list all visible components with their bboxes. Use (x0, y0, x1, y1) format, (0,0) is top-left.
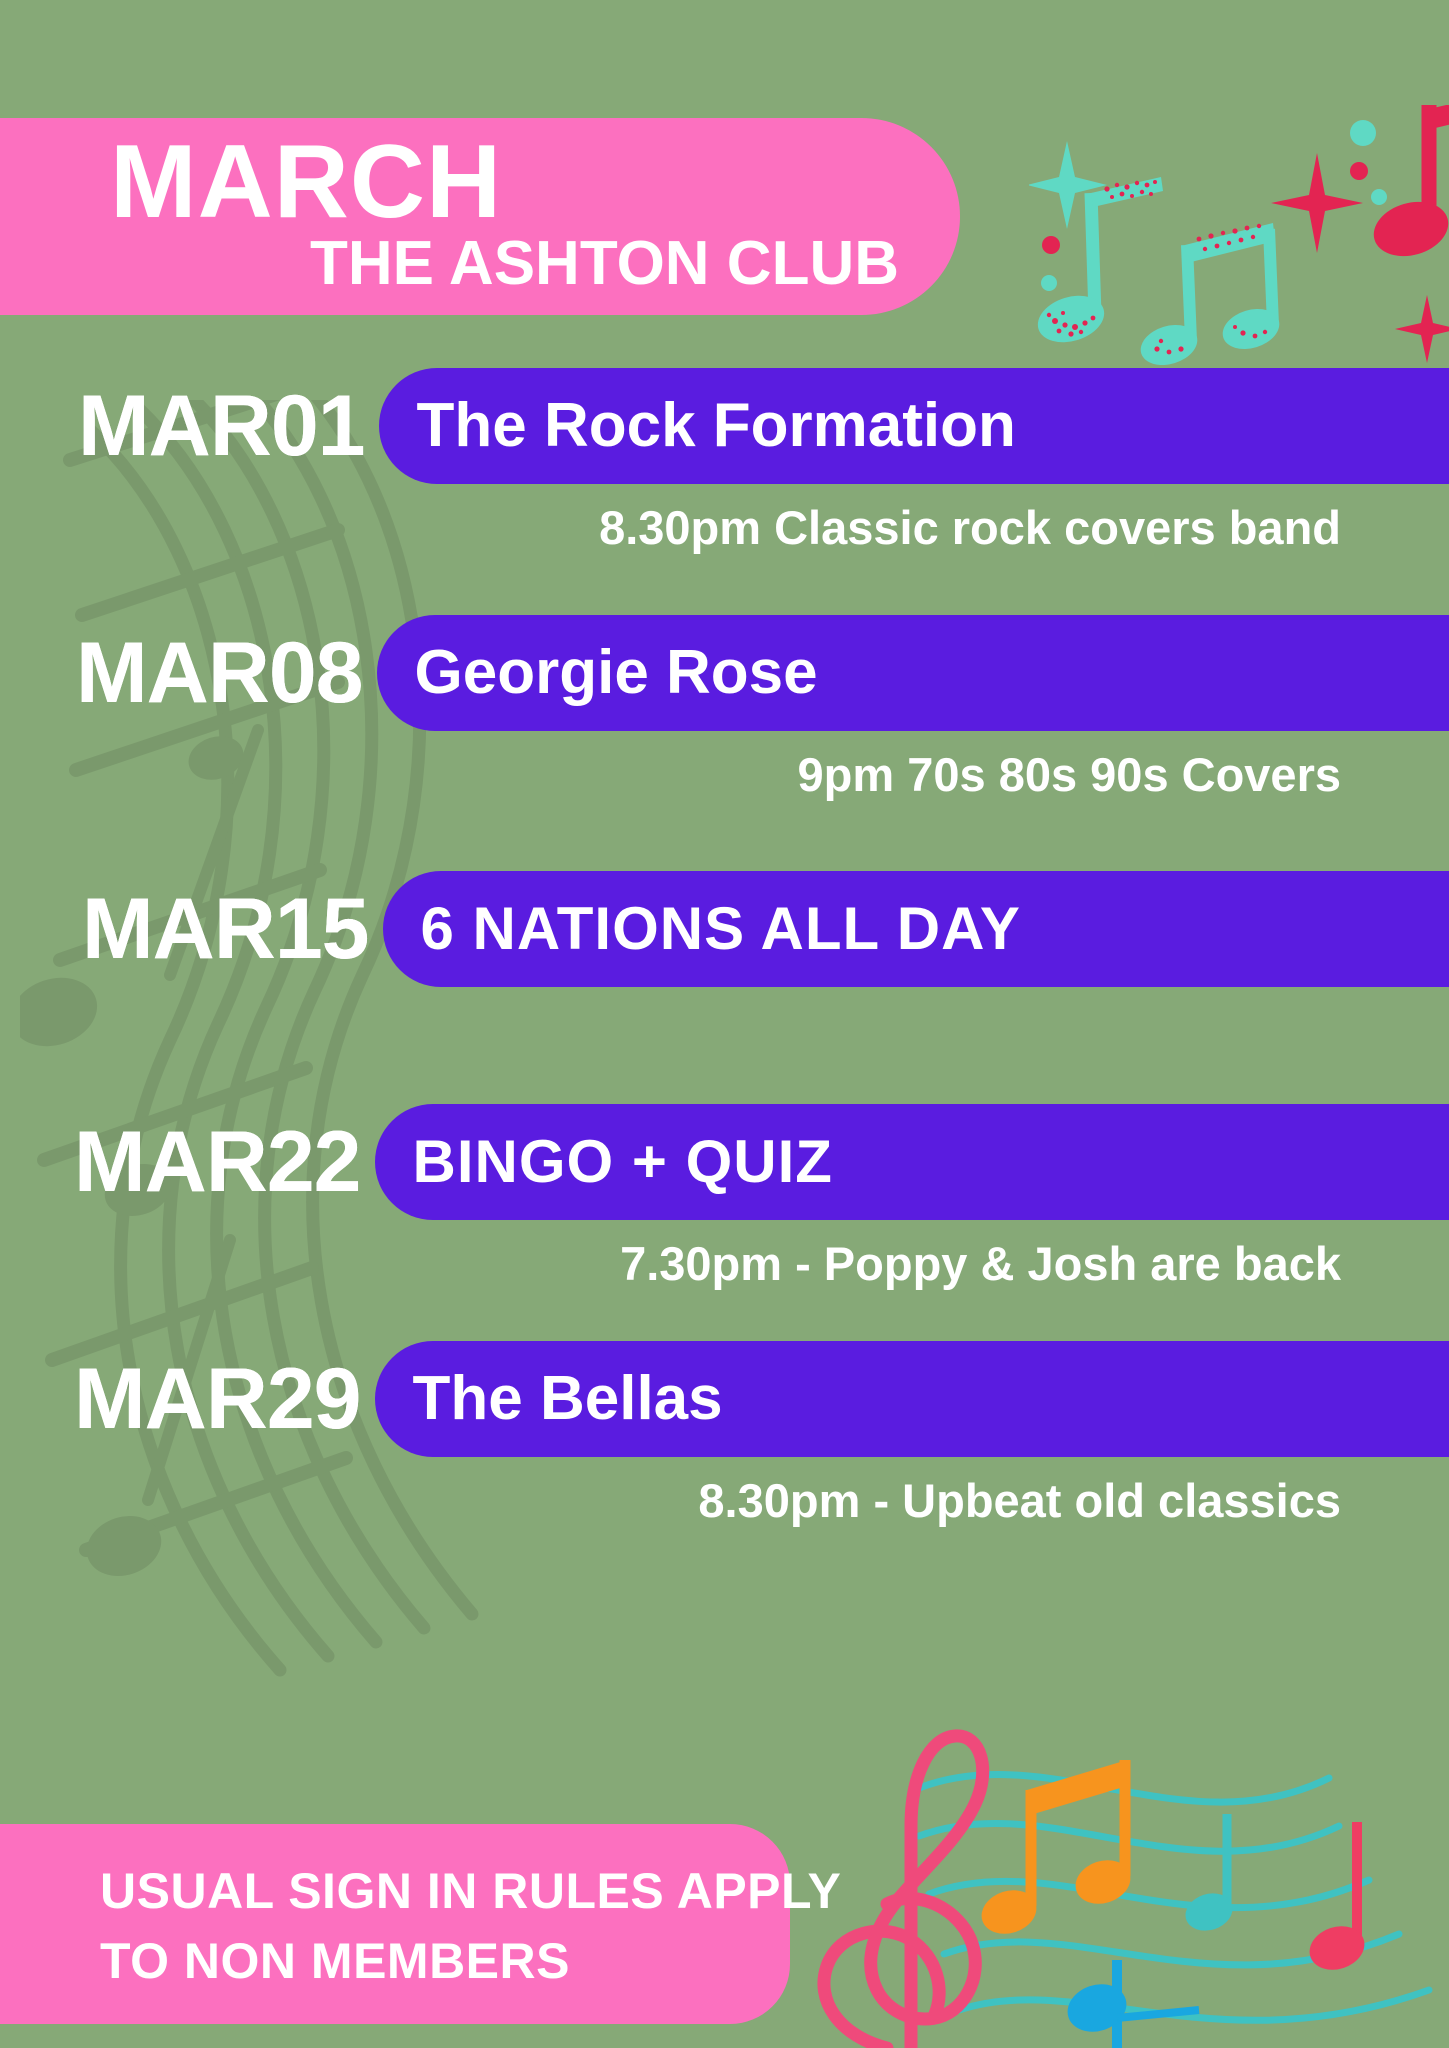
event-row-main: MAR22 BINGO + QUIZ (0, 1096, 1449, 1228)
event-date: MAR08 (76, 630, 363, 716)
event-date: MAR15 (82, 886, 369, 972)
event-list: MAR01 The Rock Formation 8.30pm Classic … (0, 360, 1449, 1524)
list-item[interactable]: MAR29 The Bellas 8.30pm - Upbeat old cla… (0, 1333, 1449, 1524)
event-title-pill[interactable]: Georgie Rose (377, 615, 1449, 731)
list-item[interactable]: MAR15 6 NATIONS ALL DAY (0, 854, 1449, 1004)
list-item[interactable]: MAR22 BINGO + QUIZ 7.30pm - Poppy & Josh… (0, 1096, 1449, 1287)
list-item[interactable]: MAR08 Georgie Rose 9pm 70s 80s 90s Cover… (0, 607, 1449, 798)
event-title-pill[interactable]: The Bellas (375, 1341, 1449, 1457)
event-subtitle: 8.30pm - Upbeat old classics (0, 1477, 1449, 1524)
list-item[interactable]: MAR01 The Rock Formation 8.30pm Classic … (0, 360, 1449, 551)
footer-banner: USUAL SIGN IN RULES APPLY TO NON MEMBERS (0, 1824, 790, 2024)
event-title: Georgie Rose (415, 642, 818, 704)
event-row-main: MAR08 Georgie Rose (0, 607, 1449, 739)
event-date: MAR01 (78, 383, 365, 469)
event-title: The Bellas (413, 1368, 723, 1430)
header-banner: MARCH THE ASHTON CLUB (0, 118, 960, 315)
footer-line-2: TO NON MEMBERS (100, 1936, 570, 1986)
event-row-main: MAR01 The Rock Formation (0, 360, 1449, 492)
event-title-pill[interactable]: The Rock Formation (379, 368, 1449, 484)
music-notes-icon (1029, 105, 1449, 365)
venue-name: THE ASHTON CLUB (310, 233, 899, 295)
event-title-pill[interactable]: BINGO + QUIZ (375, 1104, 1449, 1220)
poster-canvas: MARCH THE ASHTON CLUB (0, 0, 1449, 2048)
event-title: BINGO + QUIZ (413, 1132, 833, 1192)
event-row-main: MAR15 6 NATIONS ALL DAY (0, 854, 1449, 1004)
event-title-pill[interactable]: 6 NATIONS ALL DAY (383, 871, 1449, 987)
event-subtitle: 7.30pm - Poppy & Josh are back (0, 1240, 1449, 1287)
event-row-main: MAR29 The Bellas (0, 1333, 1449, 1465)
page-title: MARCH (110, 130, 502, 234)
treble-clef-icon (769, 1718, 1449, 2048)
event-date: MAR22 (74, 1119, 361, 1205)
event-title: 6 NATIONS ALL DAY (421, 899, 1021, 959)
event-subtitle: 8.30pm Classic rock covers band (0, 504, 1449, 551)
footer-line-1: USUAL SIGN IN RULES APPLY (100, 1866, 841, 1916)
event-title: The Rock Formation (417, 395, 1016, 457)
event-date: MAR29 (74, 1356, 361, 1442)
event-subtitle: 9pm 70s 80s 90s Covers (0, 751, 1449, 798)
